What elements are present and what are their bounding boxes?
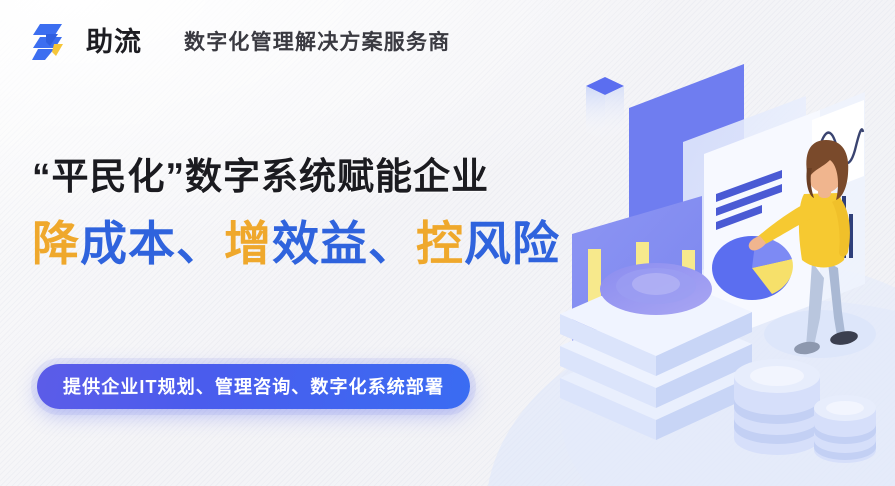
brand-tagline: 数字化管理解决方案服务商 [184, 32, 450, 53]
database-cylinder-small [814, 395, 876, 463]
headline-word-4: 效益、 [272, 217, 416, 270]
headline-secondary: 降成本、增效益、控风险 [32, 216, 560, 271]
headline-word-5: 控 [416, 217, 464, 270]
headline-word-1: 降 [32, 217, 80, 270]
headline-word-2: 成本、 [80, 217, 224, 270]
database-cylinder-large [734, 359, 820, 455]
promo-banner: 助流 数字化管理解决方案服务商 “平民化”数字系统赋能企业 降成本、增效益、控风… [0, 0, 895, 486]
floating-cube [586, 77, 624, 142]
logo-wordmark: 助流 [86, 29, 142, 56]
cta-pill-button[interactable]: 提供企业IT规划、管理咨询、数字化系统部署 [37, 364, 470, 409]
headline-primary: “平民化”数字系统赋能企业 [32, 155, 489, 199]
lightning-bolt-logo-icon [28, 22, 72, 62]
headline-word-3: 增 [224, 217, 272, 270]
cta-pill-label: 提供企业IT规划、管理咨询、数字化系统部署 [63, 378, 444, 396]
data-analytics-isometric-illustration [520, 46, 895, 486]
brand-header: 助流 数字化管理解决方案服务商 [28, 22, 450, 62]
